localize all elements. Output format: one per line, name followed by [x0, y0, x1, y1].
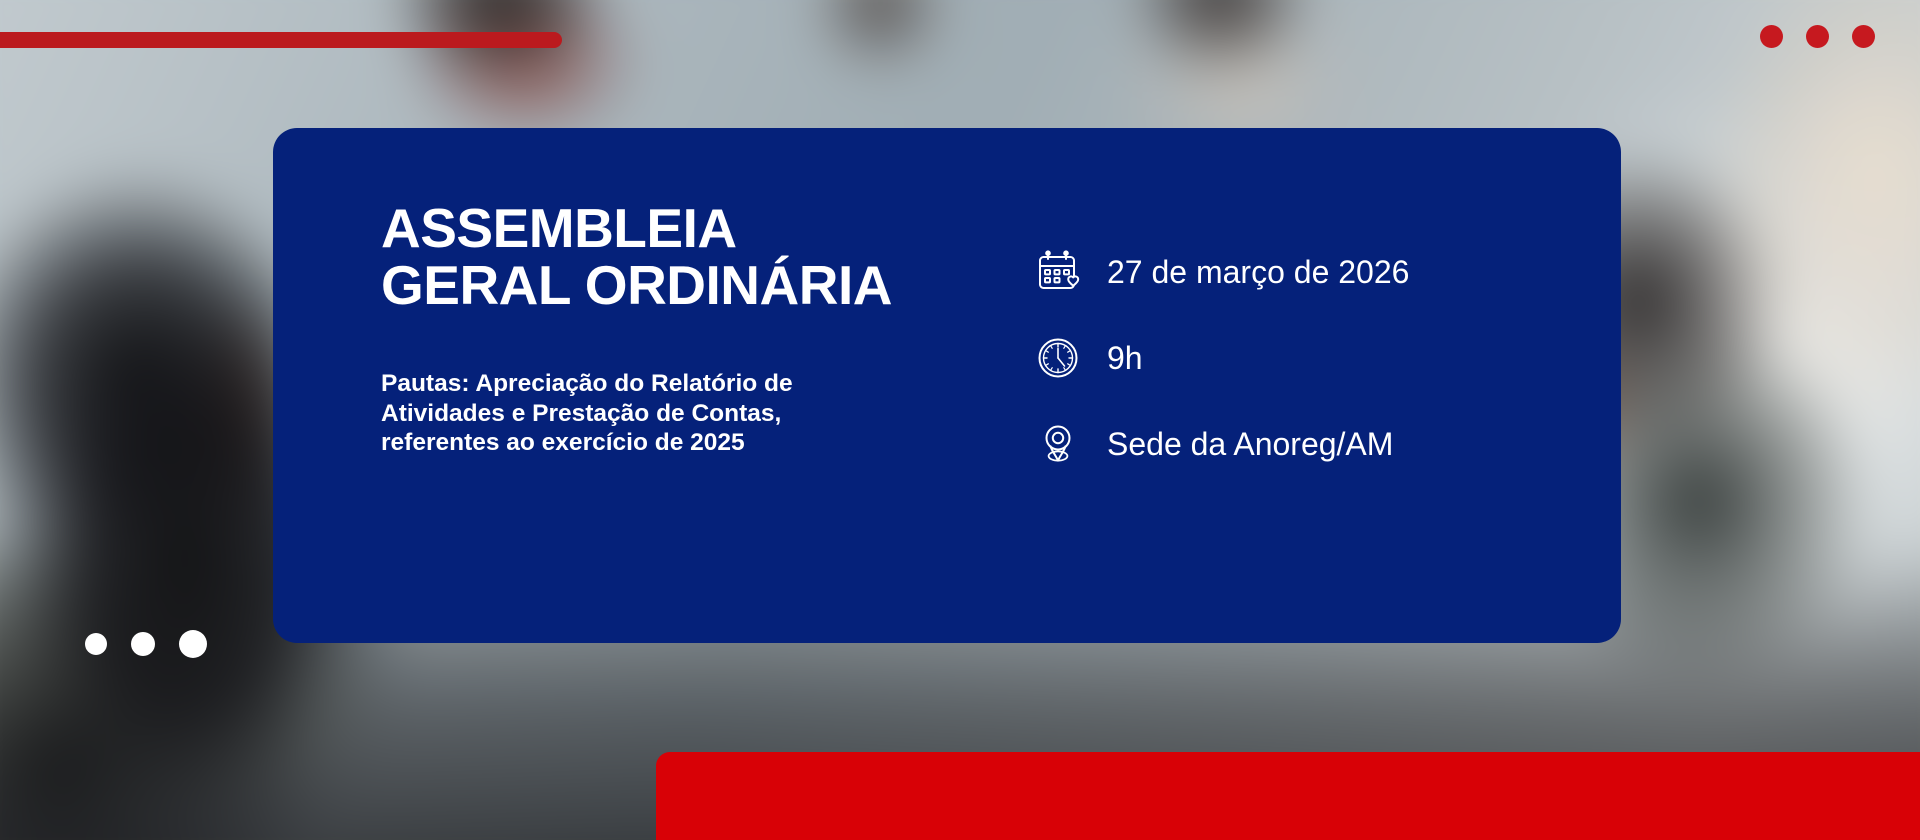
event-date-value: 27 de março de 2026	[1107, 256, 1409, 288]
title-line-1: ASSEMBLEIA	[381, 197, 737, 259]
agenda-line-1: Pautas: Apreciação do Relatório de	[381, 369, 941, 398]
page-title: ASSEMBLEIA GERAL ORDINÁRIA	[381, 200, 971, 314]
top-right-dot-cluster	[1760, 25, 1875, 48]
agenda-text: Pautas: Apreciação do Relatório de Ativi…	[381, 369, 941, 456]
top-red-rule	[0, 32, 562, 48]
clock-icon	[1033, 332, 1085, 384]
red-dot-icon	[1760, 25, 1783, 48]
event-location-row: Sede da Anoreg/AM	[1033, 418, 1409, 470]
bottom-left-dot-cluster	[85, 630, 207, 658]
bottom-red-band	[656, 752, 1920, 840]
event-date-row: 27 de março de 2026	[1033, 246, 1409, 298]
event-time-value: 9h	[1107, 342, 1143, 374]
white-dot-icon	[85, 633, 107, 655]
red-dot-icon	[1806, 25, 1829, 48]
poster-canvas: ASSEMBLEIA GERAL ORDINÁRIA Pautas: Aprec…	[0, 0, 1920, 840]
agenda-line-3: referentes ao exercício de 2025	[381, 428, 941, 457]
calendar-heart-icon	[1033, 246, 1085, 298]
agenda-line-2: Atividades e Prestação de Contas,	[381, 399, 941, 428]
white-dot-icon	[131, 632, 155, 656]
white-dot-icon	[179, 630, 207, 658]
map-pin-icon	[1033, 418, 1085, 470]
event-card: ASSEMBLEIA GERAL ORDINÁRIA Pautas: Aprec…	[273, 128, 1621, 643]
event-card-left-column: ASSEMBLEIA GERAL ORDINÁRIA Pautas: Aprec…	[273, 128, 971, 457]
event-time-row: 9h	[1033, 332, 1409, 384]
red-dot-icon	[1852, 25, 1875, 48]
event-details-list: 27 de março de 2026	[971, 128, 1409, 470]
title-line-2: GERAL ORDINÁRIA	[381, 257, 971, 314]
event-location-value: Sede da Anoreg/AM	[1107, 428, 1393, 460]
